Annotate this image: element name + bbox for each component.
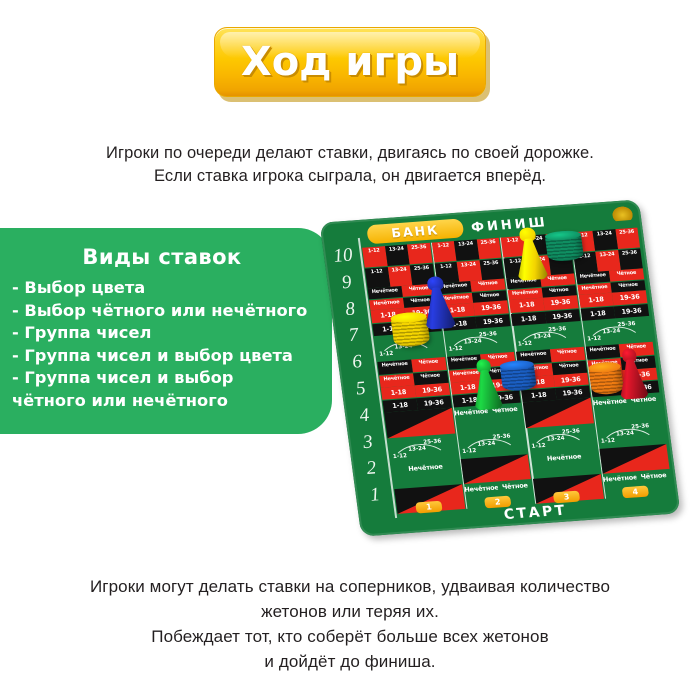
bet-cell[interactable]: 1-12: [431, 241, 456, 263]
row-number: 10: [325, 244, 362, 268]
lane-cell-group: 1-1213-2425-36: [512, 321, 585, 352]
list-item: - Выбор чётного или нечётного: [12, 300, 322, 323]
bet-cell[interactable]: 19-36: [614, 304, 649, 319]
pawn-body: [513, 237, 548, 280]
bet-cell[interactable]: 1-18: [578, 293, 613, 308]
bet-cell[interactable]: Нечётное: [592, 395, 629, 423]
lane-cell-group: 1-1213-2425-36: [387, 433, 460, 464]
green-chip-stack[interactable]: [544, 230, 584, 262]
bet-cell[interactable]: 13-24: [595, 250, 620, 272]
lane-cell-group: 1-1213-2425-36: [442, 326, 515, 357]
bet-types-heading: Виды ставок: [0, 228, 332, 269]
list-item: - Группа чисел и выбор чётного или нечёт…: [12, 367, 322, 412]
bet-cell[interactable]: 25-36: [476, 238, 501, 260]
bet-cell[interactable]: 19-36: [555, 386, 590, 400]
blue-chip-stack[interactable]: [499, 360, 537, 392]
bet-cell[interactable]: 25-36: [407, 243, 432, 265]
bet-cell[interactable]: 19-36: [612, 290, 647, 305]
row-number: 7: [335, 324, 372, 348]
row-number: 4: [346, 404, 383, 428]
lane-start-tab[interactable]: 4: [622, 486, 649, 499]
bet-cell[interactable]: 1-18: [511, 311, 546, 326]
bet-cell[interactable]: 19-36: [416, 396, 451, 410]
row-number: 1: [357, 484, 394, 508]
title-banner: Ход игры: [214, 27, 486, 97]
game-board-photo: БАНК ФИНИШ 10987654321 НечётноеЧётноеНеч…: [318, 196, 700, 556]
intro-line-2: Если ставка игрока сыграла, он двигается…: [0, 165, 700, 188]
bet-cell[interactable]: 19-36: [545, 309, 580, 324]
pawn-body: [470, 369, 503, 411]
bet-cell[interactable]: 19-36: [414, 383, 449, 397]
bet-cell[interactable]: 13-24: [592, 229, 617, 251]
game-board: БАНК ФИНИШ 10987654321 НечётноеЧётноеНеч…: [319, 199, 680, 536]
brand-logo-icon: [612, 206, 634, 221]
bet-cell[interactable]: 1-18: [383, 398, 418, 412]
bet-cell[interactable]: 19-36: [553, 373, 588, 387]
pawn-body: [421, 286, 456, 329]
bet-cell[interactable]: 1-18: [521, 388, 556, 402]
list-item: - Группа чисел: [12, 322, 322, 345]
list-item: - Группа чисел и выбор цвета: [12, 345, 322, 368]
red-black-diagonal-cell[interactable]: [384, 408, 455, 439]
pawn-body: [616, 358, 649, 400]
bet-cell[interactable]: 1-18: [580, 306, 615, 321]
lane-cell-group: 1-1213-2425-36: [456, 428, 529, 459]
bet-cell[interactable]: 13-24: [387, 265, 412, 287]
bet-cell[interactable]: 25-36: [615, 228, 640, 250]
bet-types-list: - Выбор цвета - Выбор чётного или нечётн…: [0, 277, 332, 412]
outro-line-1: Игроки могут делать ставки на соперников…: [0, 574, 700, 599]
row-number: 8: [332, 297, 369, 321]
outro-line-2: жетонов или теряя их.: [0, 599, 700, 624]
outro-line-3: Побеждает тот, кто соберёт больше всех ж…: [0, 624, 700, 649]
lane-start-tab[interactable]: 2: [484, 496, 511, 509]
bet-cell[interactable]: 1-18: [509, 298, 544, 313]
bet-cell[interactable]: 1-18: [381, 385, 416, 399]
row-number: 9: [328, 271, 365, 295]
bet-cell[interactable]: 25-36: [479, 259, 504, 281]
bet-cell[interactable]: 19-36: [543, 295, 578, 310]
bet-cell[interactable]: 19-36: [473, 300, 508, 315]
lane-cell-group: 1-1819-361-1819-36: [577, 290, 650, 321]
lane-start-tab[interactable]: 1: [415, 501, 442, 514]
lane-cell-group: [522, 397, 595, 428]
intro-paragraph: Игроки по очереди делают ставки, двигаяс…: [0, 142, 700, 188]
lane-cell-group: 1-1819-361-1819-36: [508, 295, 581, 326]
lane-cell-group: 1-1213-2425-36: [581, 316, 654, 347]
row-number: 2: [353, 457, 390, 481]
row-number: 6: [339, 350, 376, 374]
bet-cell[interactable]: 13-24: [385, 244, 410, 266]
bet-cell[interactable]: 1-12: [365, 267, 390, 289]
lane-start-tab[interactable]: 3: [553, 491, 580, 504]
red-black-diagonal-cell[interactable]: [523, 397, 594, 428]
lane-cell-group: 1-1213-2425-36: [525, 423, 598, 454]
row-number: 3: [350, 430, 387, 454]
lane-cell-group: 1-1213-2425-36: [594, 418, 667, 449]
title-banner-container: Ход игры: [0, 27, 700, 97]
bet-cell[interactable]: 1-12: [362, 246, 387, 268]
row-number: 5: [342, 377, 379, 401]
lane-cell-group: 1-1819-361-1819-36: [380, 383, 453, 413]
intro-line-1: Игроки по очереди делают ставки, двигаяс…: [0, 142, 700, 165]
outro-line-4: и дойдёт до финиша.: [0, 649, 700, 674]
bet-cell[interactable]: 25-36: [618, 248, 643, 270]
bet-cell[interactable]: 13-24: [457, 260, 482, 282]
page-title: Ход игры: [241, 42, 459, 82]
bet-types-panel: Виды ставок - Выбор цвета - Выбор чётног…: [0, 228, 332, 434]
bet-cell[interactable]: 13-24: [454, 239, 479, 261]
lane-cell-group: [383, 408, 456, 439]
list-item: - Выбор цвета: [12, 277, 322, 300]
outro-paragraph: Игроки могут делать ставки на соперников…: [0, 574, 700, 674]
bet-cell[interactable]: 19-36: [475, 314, 510, 329]
